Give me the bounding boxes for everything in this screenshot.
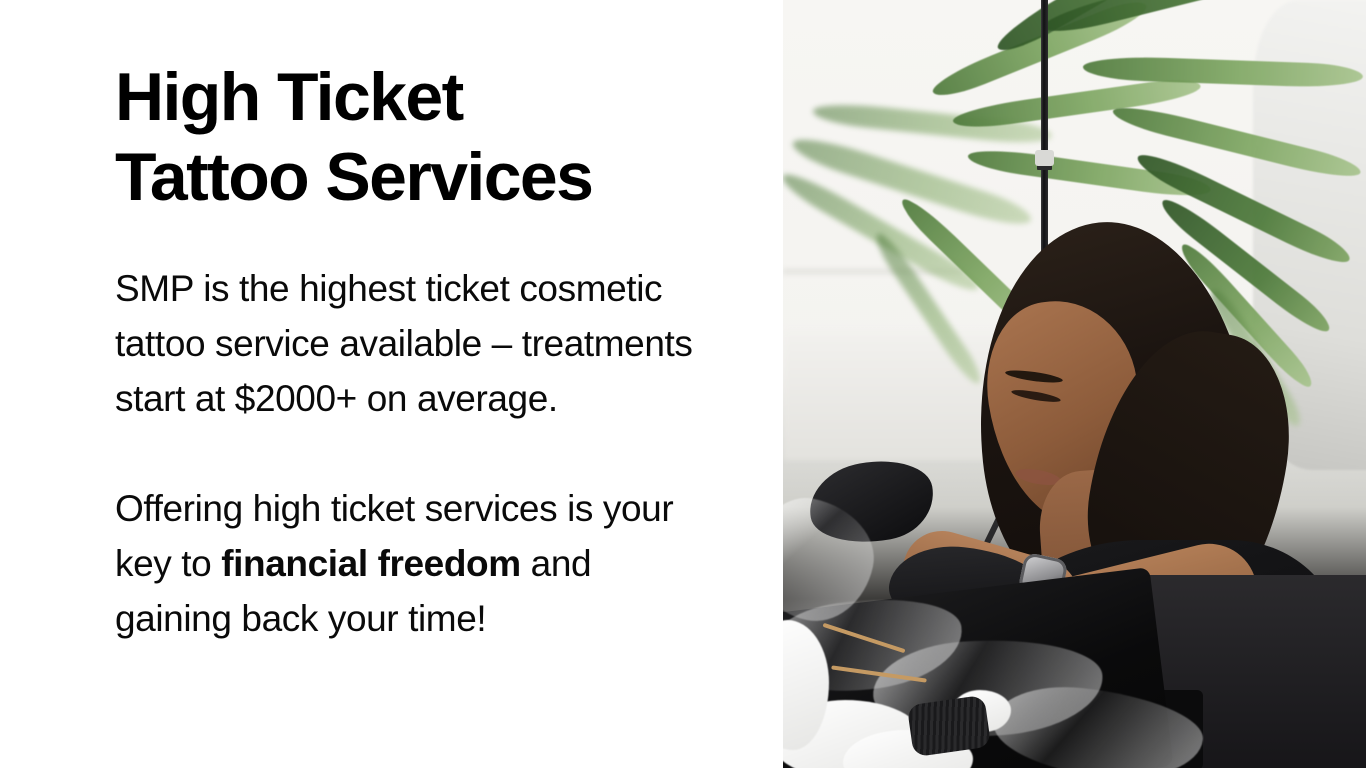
body-copy-block: SMP is the highest ticket cosmetic tatto… <box>115 261 715 646</box>
text-panel: High Ticket Tattoo Services SMP is the h… <box>0 0 783 768</box>
marketing-slide: High Ticket Tattoo Services SMP is the h… <box>0 0 1366 768</box>
body-paragraph-2: Offering high ticket services is your ke… <box>115 481 715 646</box>
light-stand-knob <box>1035 150 1054 166</box>
hero-photo <box>783 0 1366 768</box>
highlight-financial-freedom: financial freedom <box>221 543 521 584</box>
body-paragraph-1: SMP is the highest ticket cosmetic tatto… <box>115 261 715 426</box>
black-tape-roll <box>907 695 991 757</box>
page-title: High Ticket Tattoo Services <box>115 57 755 217</box>
